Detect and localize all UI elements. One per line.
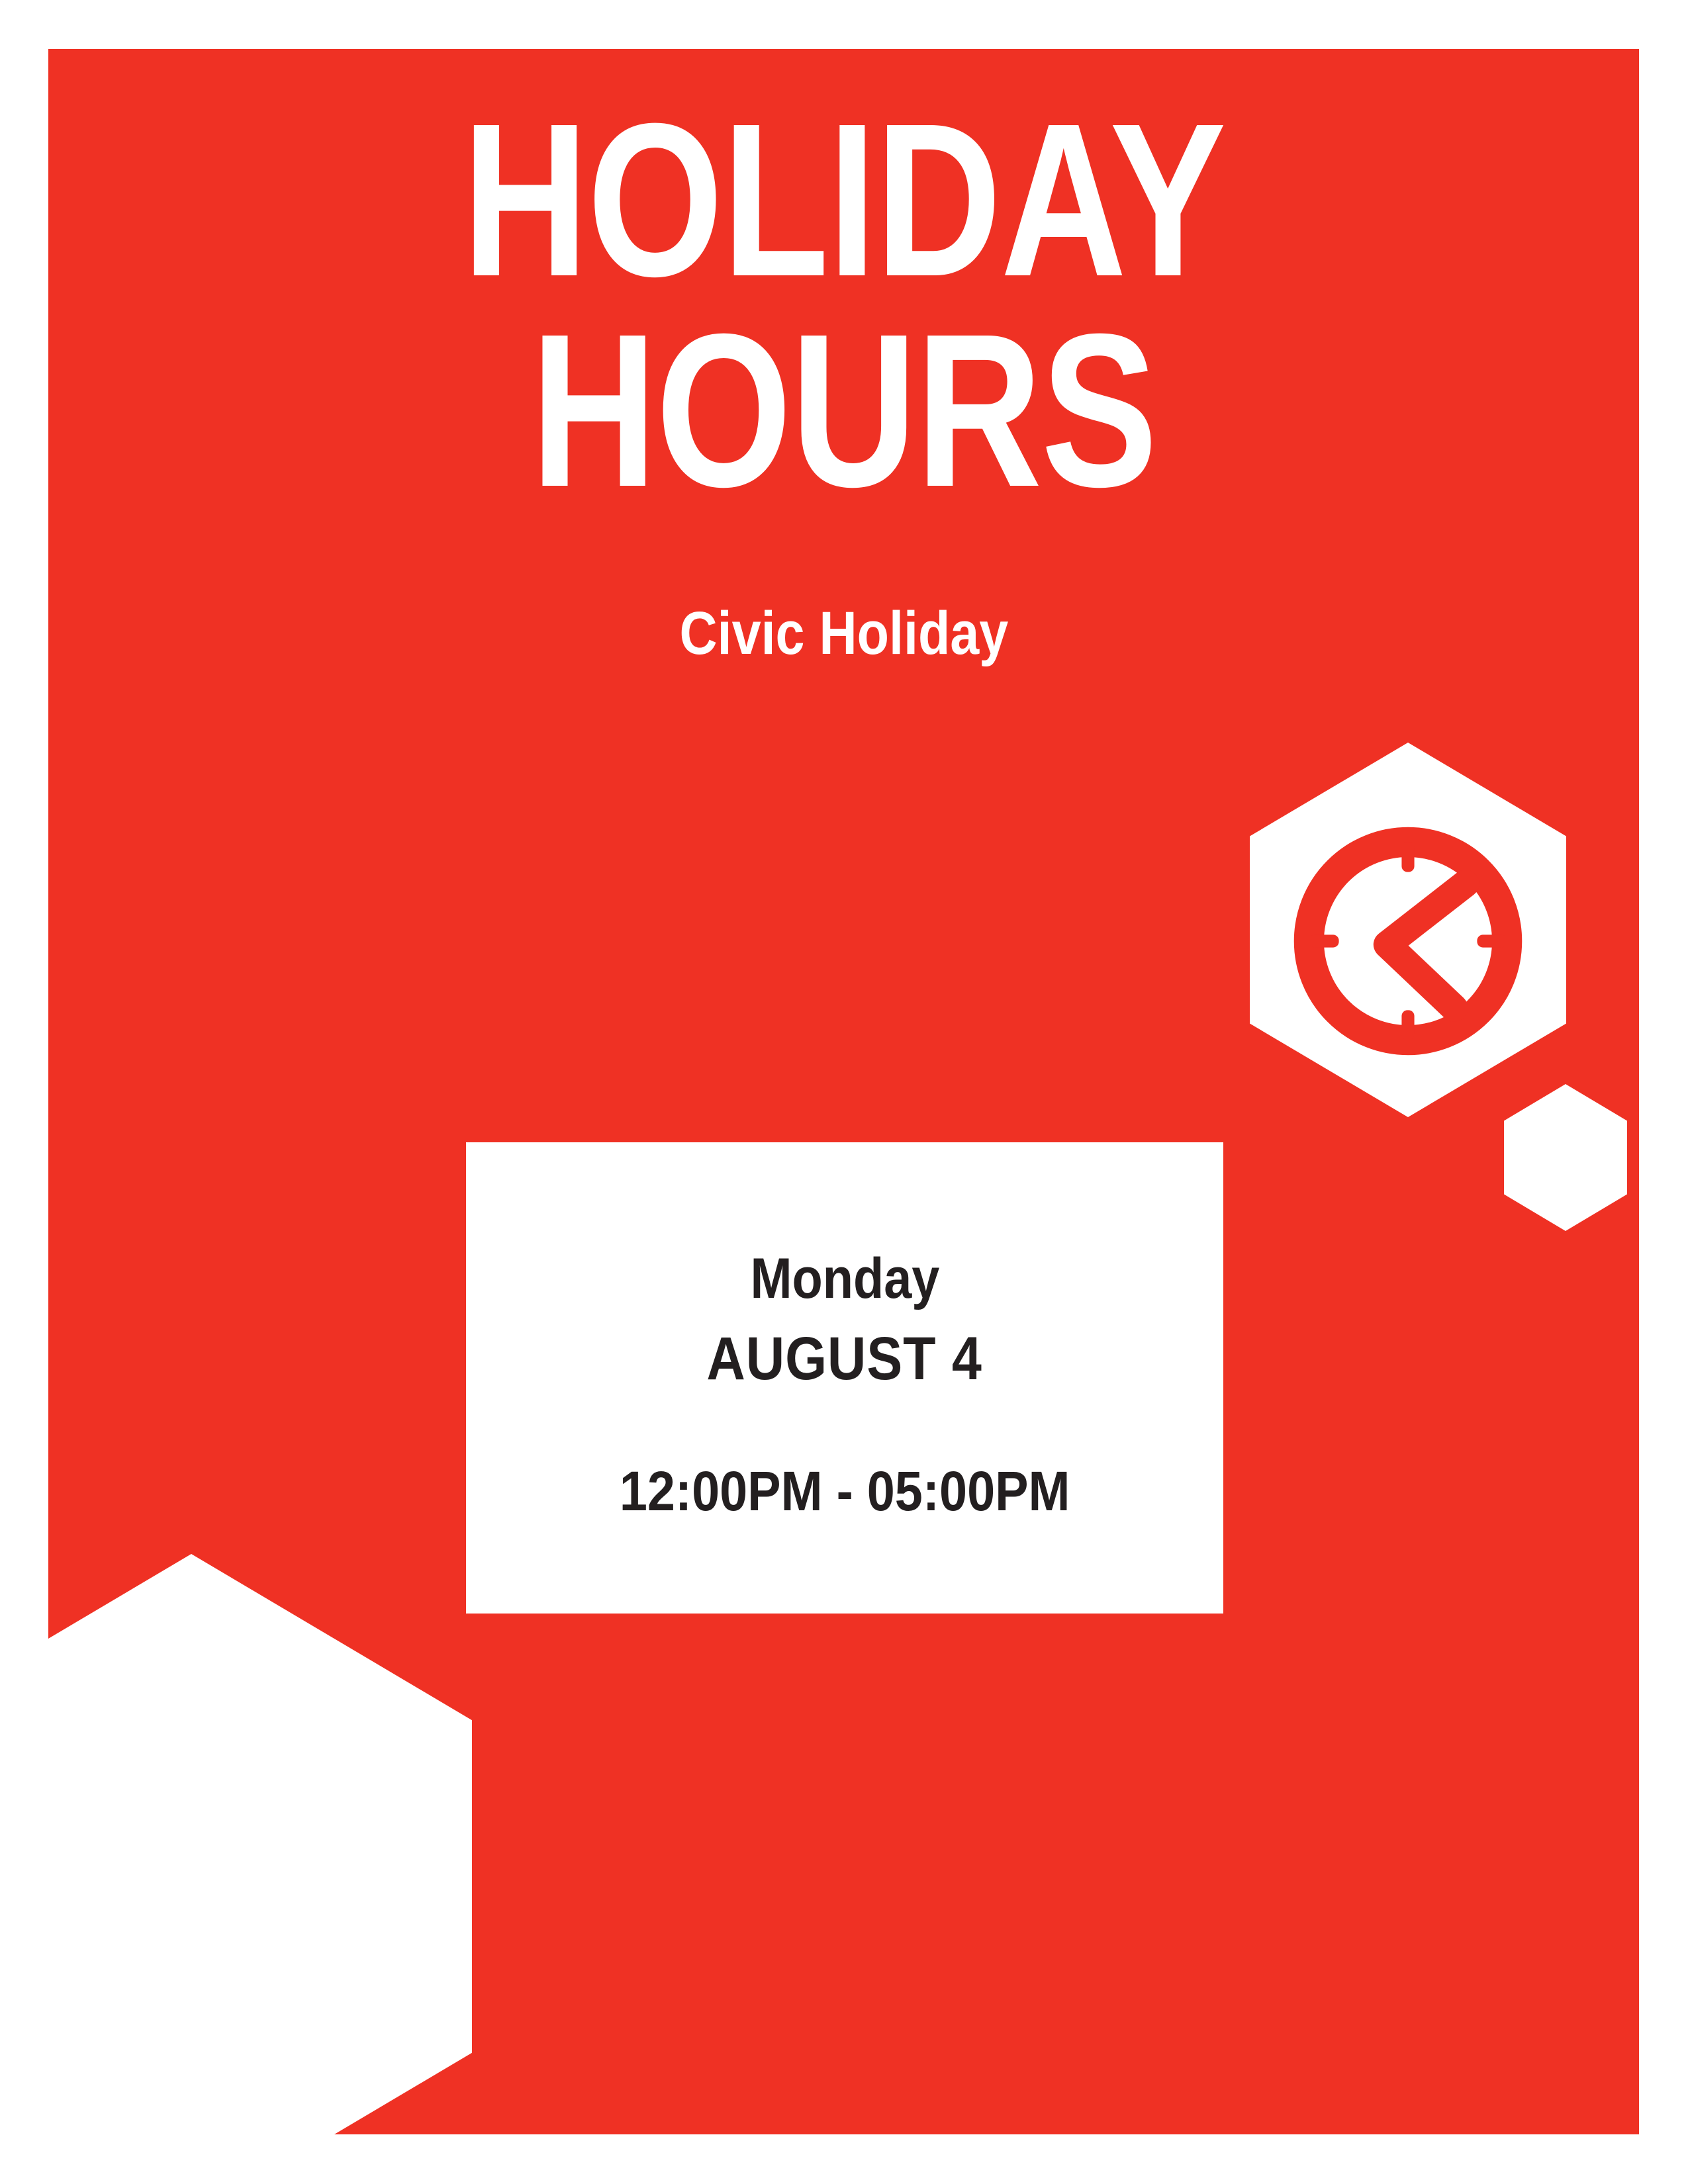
poster-headline: HOLIDAY HOURS: [48, 99, 1639, 510]
poster-subtitle: Civic Holiday: [48, 599, 1639, 668]
hours-day-label: Monday: [750, 1250, 939, 1307]
hours-info-card: Monday AUGUST 4 12:00PM - 05:00PM: [466, 1142, 1223, 1614]
holiday-hours-poster: HOLIDAY HOURS Civic Holiday Monday AUGUS…: [0, 0, 1688, 2184]
clock-icon: [1293, 826, 1523, 1056]
headline-line-1: HOLIDAY: [207, 99, 1479, 300]
subtitle-text: Civic Holiday: [679, 599, 1008, 668]
headline-line-2: HOURS: [207, 310, 1479, 511]
hours-time-range: 12:00PM - 05:00PM: [620, 1463, 1070, 1519]
hours-date-label: AUGUST 4: [707, 1328, 982, 1389]
